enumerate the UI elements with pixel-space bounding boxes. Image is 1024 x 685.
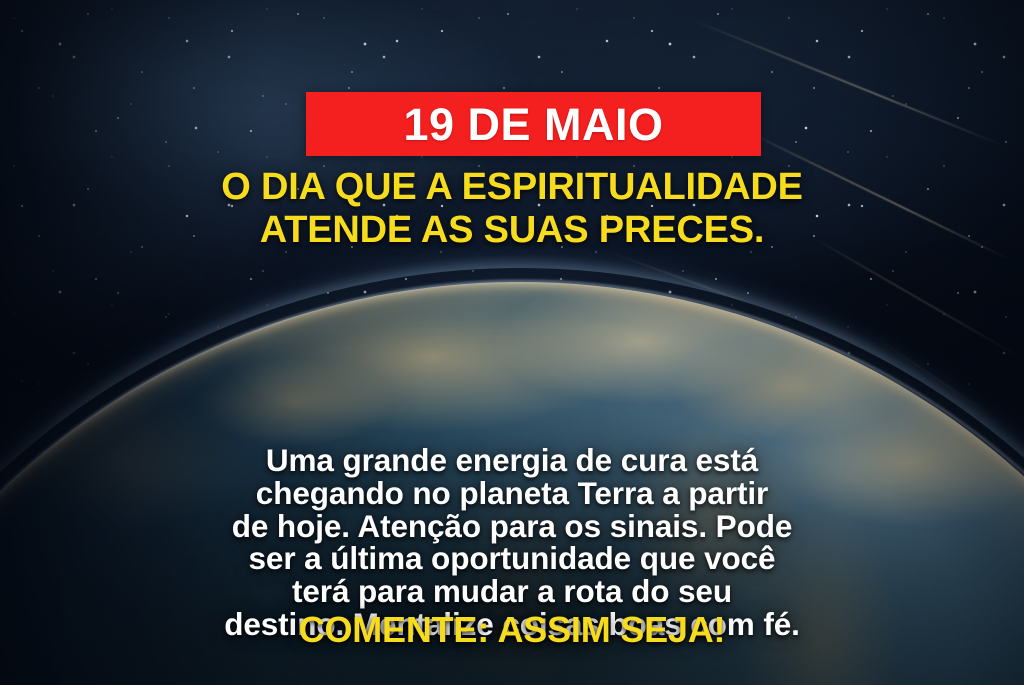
headline-line-2: ATENDE AS SUAS PRECES.	[0, 209, 1024, 252]
body-line-1: Uma grande energia de cura está	[0, 444, 1024, 477]
call-to-action-label: COMENTE: ASSIM SEJA!	[299, 609, 726, 650]
call-to-action: COMENTE: ASSIM SEJA!	[0, 612, 1024, 648]
date-banner-label: 19 DE MAIO	[403, 102, 663, 147]
body-line-2: chegando no planeta Terra a partir	[0, 477, 1024, 510]
poster-image: 19 DE MAIO O DIA QUE A ESPIRITUALIDADE A…	[0, 0, 1024, 685]
date-banner: 19 DE MAIO	[306, 92, 761, 156]
headline-line-1: O DIA QUE A ESPIRITUALIDADE	[0, 166, 1024, 209]
body-line-5: terá para mudar a rota do seu	[0, 575, 1024, 608]
body-line-4: ser a última oportunidade que você	[0, 542, 1024, 575]
headline: O DIA QUE A ESPIRITUALIDADE ATENDE AS SU…	[0, 166, 1024, 253]
poster-content: 19 DE MAIO O DIA QUE A ESPIRITUALIDADE A…	[0, 0, 1024, 685]
body-line-3: de hoje. Atenção para os sinais. Pode	[0, 510, 1024, 543]
